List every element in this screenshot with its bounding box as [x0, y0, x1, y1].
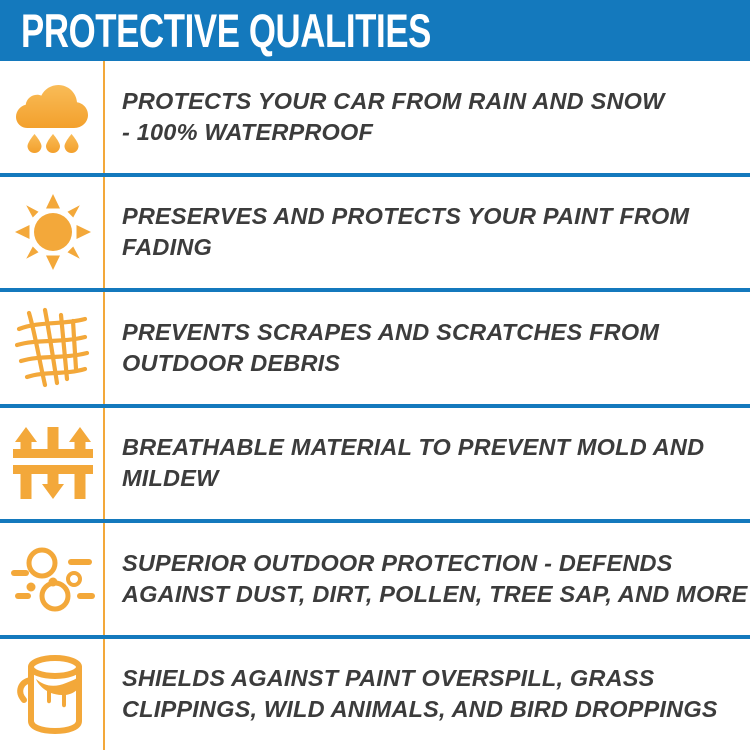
feature-text-line: FADING [122, 232, 689, 263]
breathable-arrows-icon [13, 425, 93, 501]
icon-cell [0, 292, 105, 404]
list-item: SUPERIOR OUTDOOR PROTECTION - DEFENDS AG… [0, 523, 750, 639]
header-banner: PROTECTIVE QUALITIES [0, 0, 750, 61]
feature-text-line: CLIPPINGS, WILD ANIMALS, AND BIRD DROPPI… [122, 694, 718, 725]
text-cell: PRESERVES AND PROTECTS YOUR PAINT FROM F… [105, 177, 750, 289]
scratch-mesh-icon [15, 307, 91, 389]
feature-text: SHIELDS AGAINST PAINT OVERSPILL, GRASS C… [122, 663, 718, 725]
list-item: SHIELDS AGAINST PAINT OVERSPILL, GRASS C… [0, 639, 750, 750]
icon-cell [0, 408, 105, 520]
icon-cell [0, 523, 105, 635]
feature-text: PROTECTS YOUR CAR FROM RAIN AND SNOW - 1… [122, 86, 664, 148]
feature-text-line: OUTDOOR DEBRIS [122, 348, 659, 379]
feature-text: PRESERVES AND PROTECTS YOUR PAINT FROM F… [122, 201, 689, 263]
feature-text-line: AGAINST DUST, DIRT, POLLEN, TREE SAP, AN… [122, 579, 747, 610]
sun-icon [15, 194, 91, 270]
dust-particles-icon [11, 543, 95, 615]
text-cell: BREATHABLE MATERIAL TO PREVENT MOLD AND … [105, 408, 750, 520]
feature-text-line: MILDEW [122, 463, 704, 494]
feature-text-line: PRESERVES AND PROTECTS YOUR PAINT FROM [122, 201, 689, 232]
list-item: PRESERVES AND PROTECTS YOUR PAINT FROM F… [0, 177, 750, 293]
icon-cell [0, 177, 105, 289]
feature-text: SUPERIOR OUTDOOR PROTECTION - DEFENDS AG… [122, 548, 747, 610]
feature-text: PREVENTS SCRAPES AND SCRATCHES FROM OUTD… [122, 317, 659, 379]
rain-cloud-icon [16, 79, 90, 155]
icon-cell [0, 639, 105, 750]
protective-qualities-infographic: PROTECTIVE QUALITIES [0, 0, 750, 750]
feature-text-line: PROTECTS YOUR CAR FROM RAIN AND SNOW [122, 86, 664, 117]
list-item: PROTECTS YOUR CAR FROM RAIN AND SNOW - 1… [0, 61, 750, 177]
feature-list: PROTECTS YOUR CAR FROM RAIN AND SNOW - 1… [0, 61, 750, 750]
feature-text-line: - 100% WATERPROOF [122, 117, 664, 148]
page-title: PROTECTIVE QUALITIES [21, 7, 431, 54]
list-item: PREVENTS SCRAPES AND SCRATCHES FROM OUTD… [0, 292, 750, 408]
text-cell: PREVENTS SCRAPES AND SCRATCHES FROM OUTD… [105, 292, 750, 404]
list-item: BREATHABLE MATERIAL TO PREVENT MOLD AND … [0, 408, 750, 524]
feature-text-line: SUPERIOR OUTDOOR PROTECTION - DEFENDS [122, 548, 747, 579]
text-cell: SUPERIOR OUTDOOR PROTECTION - DEFENDS AG… [105, 523, 750, 635]
feature-text-line: BREATHABLE MATERIAL TO PREVENT MOLD AND [122, 432, 704, 463]
feature-text-line: PREVENTS SCRAPES AND SCRATCHES FROM [122, 317, 659, 348]
text-cell: SHIELDS AGAINST PAINT OVERSPILL, GRASS C… [105, 639, 750, 750]
text-cell: PROTECTS YOUR CAR FROM RAIN AND SNOW - 1… [105, 61, 750, 173]
paint-can-icon [14, 652, 92, 736]
icon-cell [0, 61, 105, 173]
feature-text: BREATHABLE MATERIAL TO PREVENT MOLD AND … [122, 432, 704, 494]
feature-text-line: SHIELDS AGAINST PAINT OVERSPILL, GRASS [122, 663, 718, 694]
